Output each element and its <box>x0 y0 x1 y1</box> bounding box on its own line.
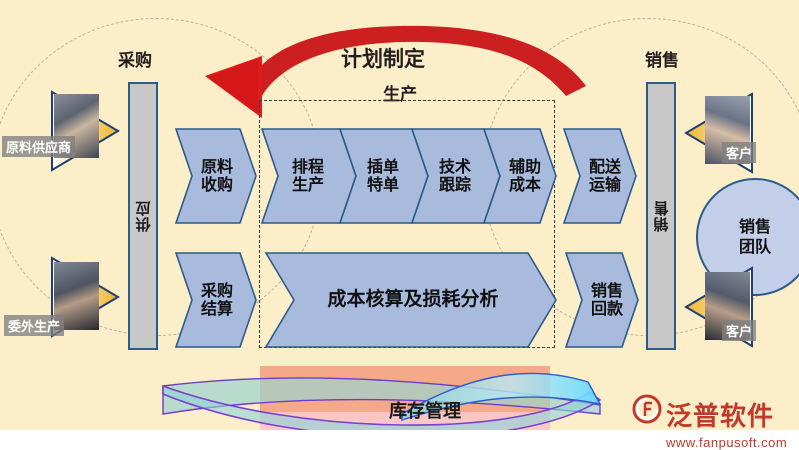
process-auxiliary-cost[interactable]: 辅助 成本 <box>494 129 556 223</box>
line2: 生产 <box>292 175 324 194</box>
process-purchase-settlement[interactable]: 采购 结算 <box>186 253 248 347</box>
line1: 采购 <box>201 281 233 300</box>
process-insert-order[interactable]: 插单 特单 <box>350 129 416 223</box>
line1: 插单 <box>367 157 399 176</box>
header-sales: 销售 <box>645 46 679 71</box>
line1: 配送 <box>589 157 621 176</box>
process-cost-accounting-label: 成本核算及损耗分析 <box>327 289 498 311</box>
process-raw-purchase[interactable]: 原料 收购 <box>186 129 248 223</box>
line2: 特单 <box>367 175 399 194</box>
line1: 辅助 <box>509 157 541 176</box>
process-tech-tracking[interactable]: 技术 跟踪 <box>422 129 488 223</box>
pillar-distribution-label: 销售 <box>651 200 672 232</box>
line1: 原料 <box>201 157 233 176</box>
process-auxiliary-cost-label: 辅助 成本 <box>509 158 541 195</box>
line1: 技术 <box>439 157 471 176</box>
process-purchase-settlement-label: 采购 结算 <box>201 282 233 319</box>
process-tech-tracking-label: 技术 跟踪 <box>439 158 471 195</box>
pillar-supply: 供应 <box>128 82 158 350</box>
pillar-distribution: 销售 <box>646 82 676 350</box>
customer-bottom-label: 客户 <box>722 320 756 341</box>
line2: 结算 <box>201 299 233 318</box>
raw-material-supplier-label: 原料供应商 <box>2 136 75 157</box>
outsourced-production-label: 委外生产 <box>4 315 64 336</box>
diagram-canvas: 采购 计划制定 生产 销售 <box>0 0 799 450</box>
watermark-url: www.fanpusoft.com <box>666 435 787 450</box>
line2: 运输 <box>589 175 621 194</box>
process-schedule-production[interactable]: 排程 生产 <box>274 129 342 223</box>
process-sales-collection[interactable]: 销售 回款 <box>576 253 638 347</box>
line1: 销售 <box>591 281 623 300</box>
header-planning: 计划制定 <box>341 43 425 73</box>
header-purchase: 采购 <box>118 46 152 71</box>
line2: 收购 <box>201 175 233 194</box>
inventory-label: 库存管理 <box>389 397 461 423</box>
sales-team-label: 销售 团队 <box>739 217 771 257</box>
line1: 排程 <box>292 157 324 176</box>
process-delivery-transport[interactable]: 配送 运输 <box>574 129 636 223</box>
watermark: 泛普软件 www.fanpusoft.com <box>636 396 787 450</box>
process-raw-purchase-label: 原料 收购 <box>201 158 233 195</box>
fanpu-logo-icon <box>632 394 662 424</box>
watermark-brand: 泛普软件 <box>666 396 787 433</box>
line2: 团队 <box>739 237 771 256</box>
line2: 跟踪 <box>439 175 471 194</box>
pillar-supply-label: 供应 <box>133 200 154 232</box>
line1: 销售 <box>739 217 771 236</box>
process-schedule-production-label: 排程 生产 <box>292 158 324 195</box>
process-delivery-transport-label: 配送 运输 <box>589 158 621 195</box>
customer-top-label: 客户 <box>722 142 756 163</box>
process-insert-order-label: 插单 特单 <box>367 158 399 195</box>
process-cost-accounting[interactable]: 成本核算及损耗分析 <box>290 253 536 347</box>
line2: 成本 <box>509 175 541 194</box>
process-sales-collection-label: 销售 回款 <box>591 282 623 319</box>
line2: 回款 <box>591 299 623 318</box>
